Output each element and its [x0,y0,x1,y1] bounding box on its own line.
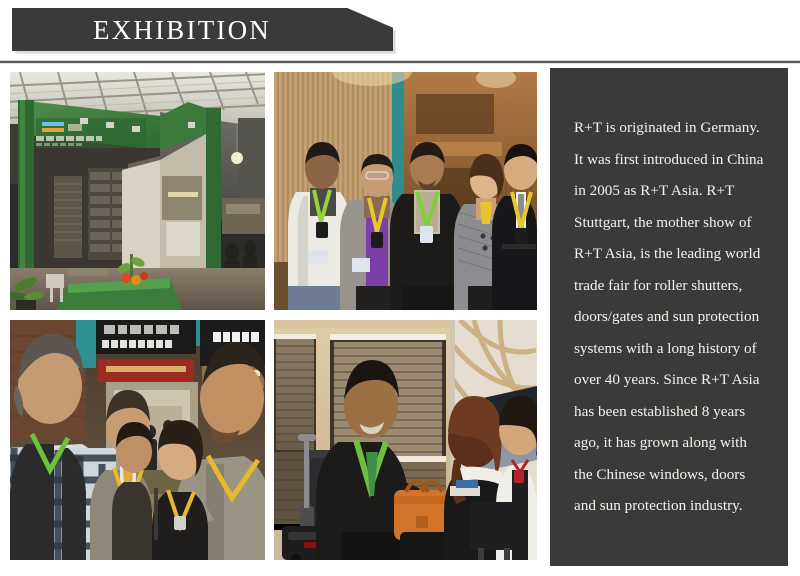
photo-visitor-group [274,72,537,310]
photo-exhibition-booth [10,72,265,310]
info-paragraph: R+T is originated in Germany. It was fir… [574,112,764,522]
photo-group-graphic [274,72,537,310]
info-panel: R+T is originated in Germany. It was fir… [550,68,788,566]
photo-meeting-graphic [274,320,537,560]
page-title: EXHIBITION [12,8,352,51]
photo-handshake-graphic [10,320,265,560]
header-divider [0,60,800,64]
photo-booth-graphic [10,72,265,310]
divider-line-bottom [0,63,800,64]
photo-business-meeting [274,320,537,560]
header-banner: EXHIBITION [12,8,393,51]
photo-handshake [10,320,265,560]
